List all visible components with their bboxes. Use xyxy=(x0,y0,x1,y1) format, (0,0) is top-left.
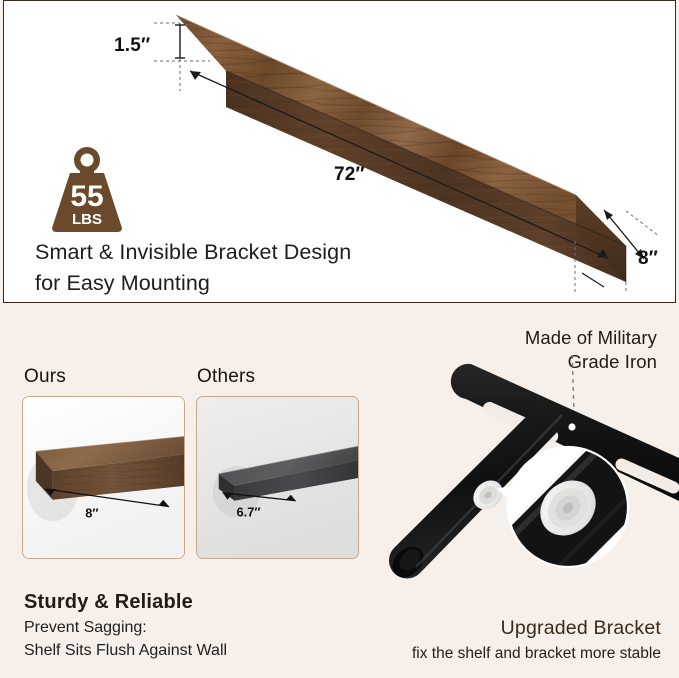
military-grade-caption: Made of Military Grade Iron xyxy=(427,326,657,374)
sturdy-heading: Sturdy & Reliable xyxy=(24,591,193,614)
comparison-heading-others: Others xyxy=(197,366,255,388)
military-grade-line-2: Grade Iron xyxy=(427,350,657,374)
headline-line-1: Smart & Invisible Bracket Design xyxy=(35,237,455,268)
comparison-heading-ours: Ours xyxy=(24,366,66,388)
page-title: Smart & Invisible Bracket Design for Eas… xyxy=(35,237,455,299)
top-feature-card: 1.5″ 72″ 8″ 55 LBS Smart & Invisible Bra… xyxy=(3,0,676,303)
weight-value: 55 xyxy=(70,180,103,213)
product-infographic: 1.5″ 72″ 8″ 55 LBS Smart & Invisible Bra… xyxy=(0,0,679,678)
upgraded-bracket-title: Upgraded Bracket xyxy=(501,617,661,640)
comparison-panel-others: 6.7″ xyxy=(196,396,359,559)
comparison-panel-ours: 8″ xyxy=(22,396,185,559)
military-grade-line-1: Made of Military xyxy=(427,326,657,350)
upgraded-bracket-subtitle: fix the shelf and bracket more stable xyxy=(412,645,661,663)
weight-icon: 55 LBS xyxy=(48,144,126,232)
others-dimension-label: 6.7″ xyxy=(237,505,261,520)
headline-line-2: for Easy Mounting xyxy=(35,268,455,299)
ours-dimension-label: 8″ xyxy=(85,506,98,521)
dimension-label-length: 72″ xyxy=(334,164,365,186)
sturdy-line-1: Prevent Sagging: xyxy=(24,619,147,637)
weight-unit: LBS xyxy=(72,211,102,228)
weight-capacity-badge: 55 LBS xyxy=(48,144,126,232)
sturdy-line-2: Shelf Sits Flush Against Wall xyxy=(24,642,227,660)
dimension-label-depth: 8″ xyxy=(638,248,658,270)
dimension-label-thickness: 1.5″ xyxy=(114,35,150,57)
